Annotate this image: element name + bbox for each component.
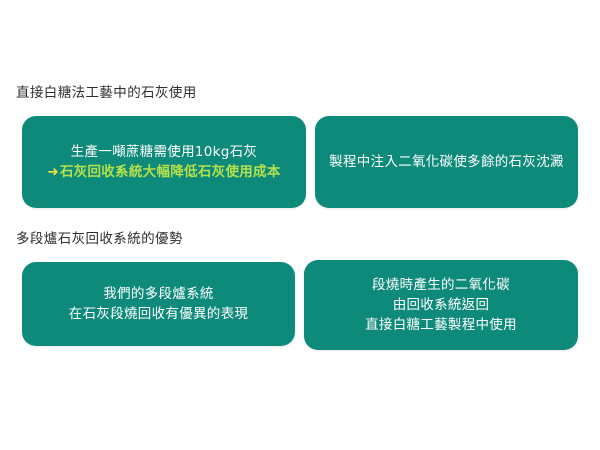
card-co2-injection-line-1: 製程中注入二氧化碳使多餘的石灰沈澱 bbox=[329, 152, 564, 172]
card-multi-hearth[interactable]: 我們的多段爐系統 在石灰段燒回收有優異的表現 bbox=[22, 262, 295, 346]
section-heading-multi-hearth-advantages: 多段爐石灰回收系統的優勢 bbox=[0, 230, 600, 248]
section-direct-white-sugar: 直接白糖法工藝中的石灰使用 生產一噸蔗糖需使用10kg石灰 ➜石灰回收系統大幅降… bbox=[0, 84, 600, 208]
section-multi-hearth-advantages: 多段爐石灰回收系統的優勢 我們的多段爐系統 在石灰段燒回收有優異的表現 段燒時產… bbox=[0, 230, 600, 350]
card-multi-hearth-line-1: 我們的多段爐系統 bbox=[103, 284, 213, 304]
card-co2-return-line-3: 直接白糖工藝製程中使用 bbox=[365, 315, 517, 335]
section-heading-direct-white-sugar: 直接白糖法工藝中的石灰使用 bbox=[0, 84, 600, 102]
card-co2-return-line-1: 段燒時產生的二氧化碳 bbox=[372, 275, 510, 295]
slide-canvas: 直接白糖法工藝中的石灰使用 生產一噸蔗糖需使用10kg石灰 ➜石灰回收系統大幅降… bbox=[0, 0, 600, 450]
card-co2-injection[interactable]: 製程中注入二氧化碳使多餘的石灰沈澱 bbox=[315, 116, 578, 208]
card-multi-hearth-line-2: 在石灰段燒回收有優異的表現 bbox=[69, 304, 248, 324]
card-row-top: 生產一噸蔗糖需使用10kg石灰 ➜石灰回收系統大幅降低石灰使用成本 製程中注入二… bbox=[0, 116, 600, 208]
card-lime-usage-line-2: ➜石灰回收系統大幅降低石灰使用成本 bbox=[47, 162, 280, 182]
card-lime-usage-line-2-text: 石灰回收系統大幅降低石灰使用成本 bbox=[60, 164, 281, 180]
card-co2-return-line-2: 由回收系統返回 bbox=[393, 295, 490, 315]
arrow-right-icon: ➜ bbox=[47, 162, 59, 182]
card-lime-usage[interactable]: 生產一噸蔗糖需使用10kg石灰 ➜石灰回收系統大幅降低石灰使用成本 bbox=[22, 116, 306, 208]
card-co2-return[interactable]: 段燒時產生的二氧化碳 由回收系統返回 直接白糖工藝製程中使用 bbox=[304, 260, 578, 350]
card-row-bottom: 我們的多段爐系統 在石灰段燒回收有優異的表現 段燒時產生的二氧化碳 由回收系統返… bbox=[0, 260, 600, 350]
card-lime-usage-line-1: 生產一噸蔗糖需使用10kg石灰 bbox=[71, 142, 258, 162]
